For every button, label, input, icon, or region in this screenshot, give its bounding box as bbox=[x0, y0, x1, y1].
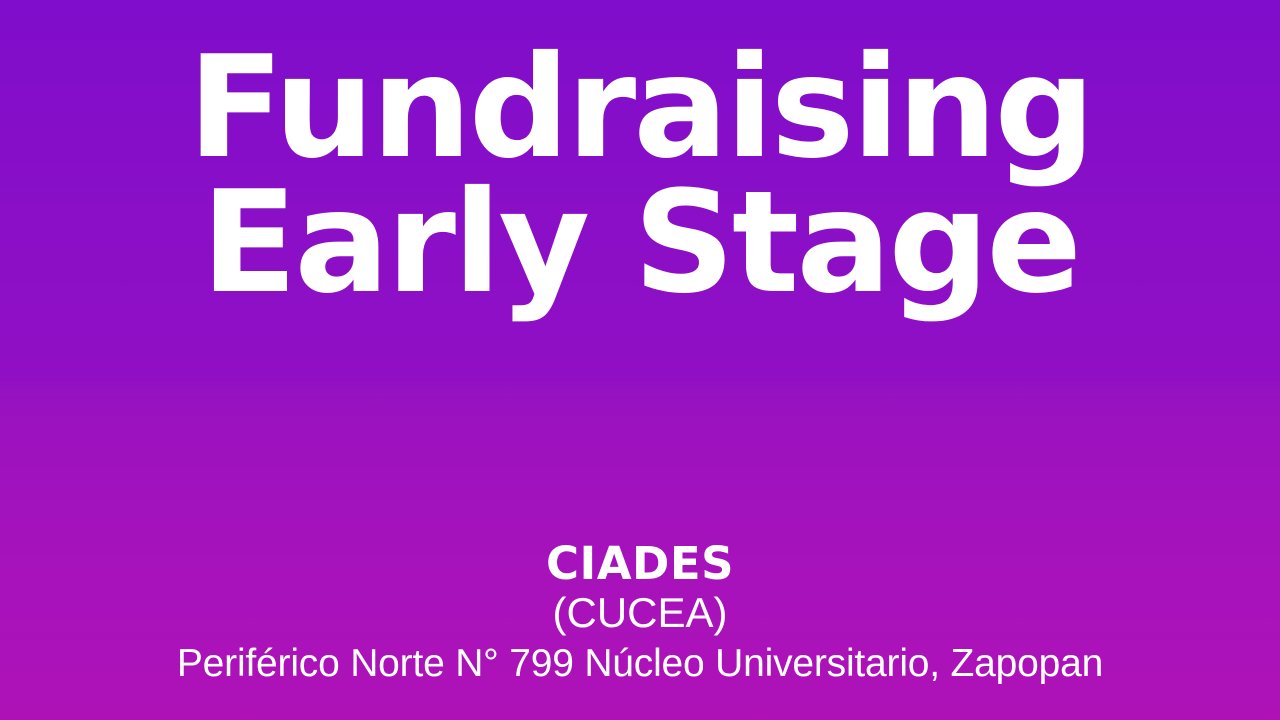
organization-address: Periférico Norte N° 799 Núcleo Universit… bbox=[0, 642, 1280, 687]
slide-title: Fundraising Early Stage bbox=[0, 42, 1280, 309]
title-line-1: Fundraising bbox=[0, 42, 1280, 175]
organization-campus: (CUCEA) bbox=[0, 589, 1280, 637]
presentation-slide: Fundraising Early Stage CIADES (CUCEA) P… bbox=[0, 0, 1280, 720]
organization-name: CIADES bbox=[0, 540, 1280, 587]
title-line-2: Early Stage bbox=[0, 177, 1280, 310]
organization-block: CIADES (CUCEA) Periférico Norte N° 799 N… bbox=[0, 540, 1280, 686]
